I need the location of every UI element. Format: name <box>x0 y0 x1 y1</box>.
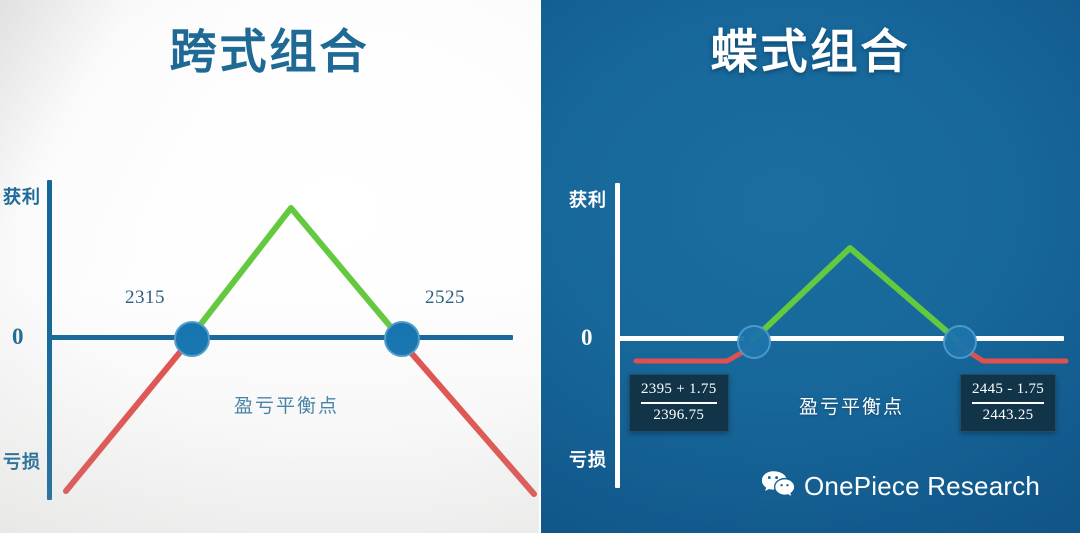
straddle-strike-label-high: 2525 <box>425 287 465 309</box>
straddle-profit-label: 获利 <box>3 183 41 209</box>
straddle-strike-label-low: 2315 <box>125 287 165 309</box>
straddle-breakeven-dot-right[interactable] <box>384 321 420 357</box>
straddle-loss-line-right <box>400 340 534 494</box>
butterfly-breakeven-caption: 盈亏平衡点 <box>799 392 904 419</box>
butterfly-breakeven-dot-left[interactable] <box>737 325 771 359</box>
butterfly-title: 蝶式组合 <box>541 26 1080 81</box>
butterfly-profit-line <box>753 248 958 341</box>
wechat-icon <box>761 470 795 503</box>
butterfly-x-axis-segment-2 <box>770 336 948 341</box>
straddle-profit-line <box>190 208 400 338</box>
fraction-rule <box>641 402 717 404</box>
fraction-rule <box>972 402 1044 404</box>
butterfly-breakeven-box-low-numerator: 2395 + 1.75 <box>641 380 717 399</box>
straddle-loss-label: 亏损 <box>3 448 41 474</box>
butterfly-loss-label: 亏损 <box>569 446 607 472</box>
butterfly-zero-label: 0 <box>581 325 593 351</box>
straddle-panel: 跨式组合 获利 亏损 0 2315 2525 盈亏平衡点 <box>0 0 539 533</box>
straddle-loss-line-left <box>66 340 190 491</box>
straddle-breakeven-dot-left[interactable] <box>174 321 210 357</box>
butterfly-x-axis-segment-1 <box>615 336 744 341</box>
butterfly-profit-label: 获利 <box>569 186 607 212</box>
butterfly-x-axis-segment-3 <box>975 336 1064 341</box>
straddle-title: 跨式组合 <box>0 26 539 81</box>
straddle-breakeven-caption: 盈亏平衡点 <box>234 391 339 418</box>
butterfly-breakeven-box-high-numerator: 2445 - 1.75 <box>972 380 1044 399</box>
straddle-y-axis <box>47 180 52 500</box>
butterfly-breakeven-box-high-denominator: 2443.25 <box>972 406 1044 425</box>
butterfly-loss-line-left <box>636 347 752 361</box>
straddle-zero-label: 0 <box>12 324 24 350</box>
butterfly-panel: 蝶式组合 获利 亏损 0 2395 + 1.75 2396.75 24 <box>541 0 1080 533</box>
butterfly-breakeven-box-low-denominator: 2396.75 <box>641 406 717 425</box>
straddle-x-axis <box>47 335 513 340</box>
butterfly-breakeven-dot-right[interactable] <box>943 325 977 359</box>
butterfly-breakeven-box-low: 2395 + 1.75 2396.75 <box>629 374 729 432</box>
watermark: OnePiece Research <box>761 470 1040 503</box>
watermark-text: OnePiece Research <box>804 471 1040 502</box>
butterfly-breakeven-box-high: 2445 - 1.75 2443.25 <box>960 374 1056 432</box>
slide-canvas: 跨式组合 获利 亏损 0 2315 2525 盈亏平衡点 蝶式组合 <box>0 0 1080 533</box>
